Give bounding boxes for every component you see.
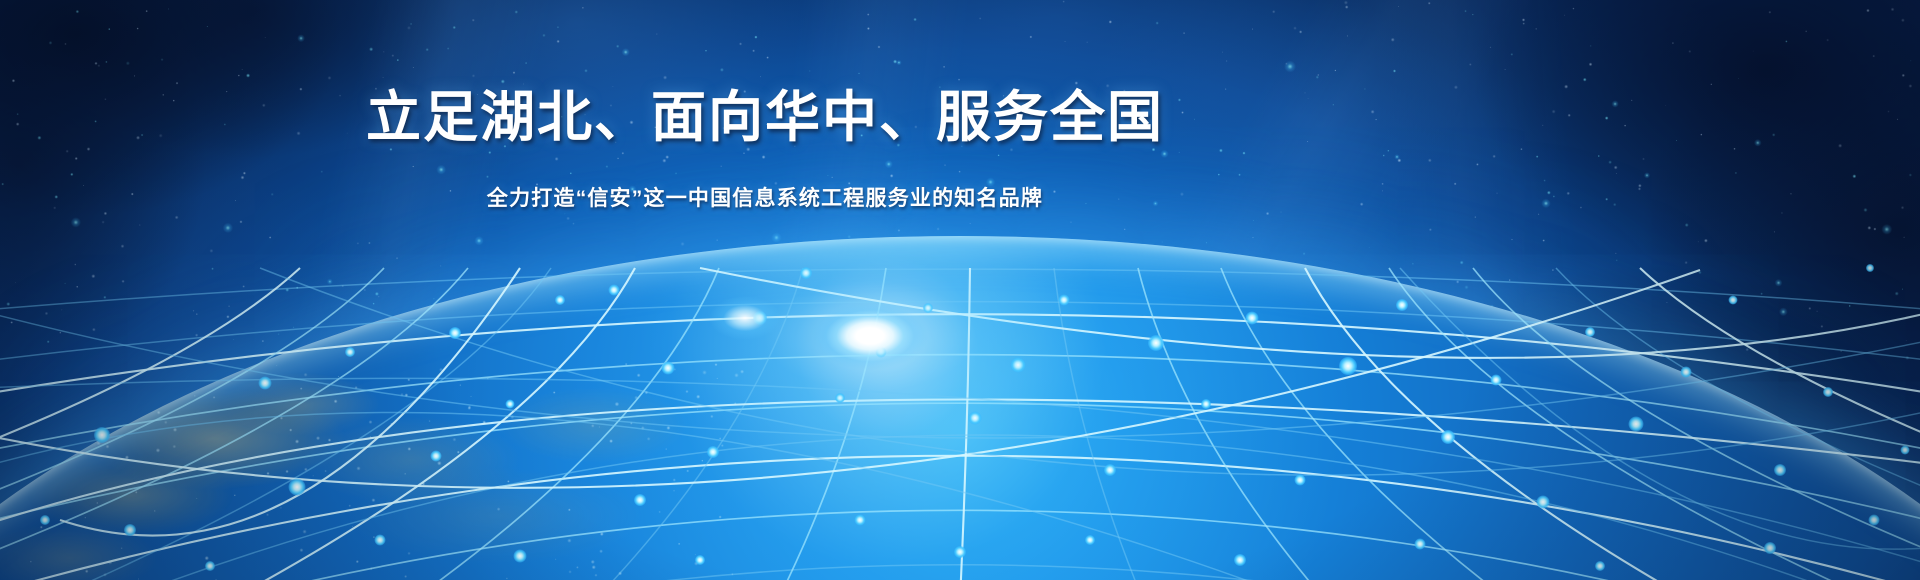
banner-headline: 立足湖北、面向华中、服务全国	[0, 84, 1530, 150]
banner-subline: 全力打造“信安”这一中国信息系统工程服务业的知名品牌	[0, 184, 1530, 214]
hero-banner: 立足湖北、面向华中、服务全国 全力打造“信安”这一中国信息系统工程服务业的知名品…	[0, 0, 1920, 580]
